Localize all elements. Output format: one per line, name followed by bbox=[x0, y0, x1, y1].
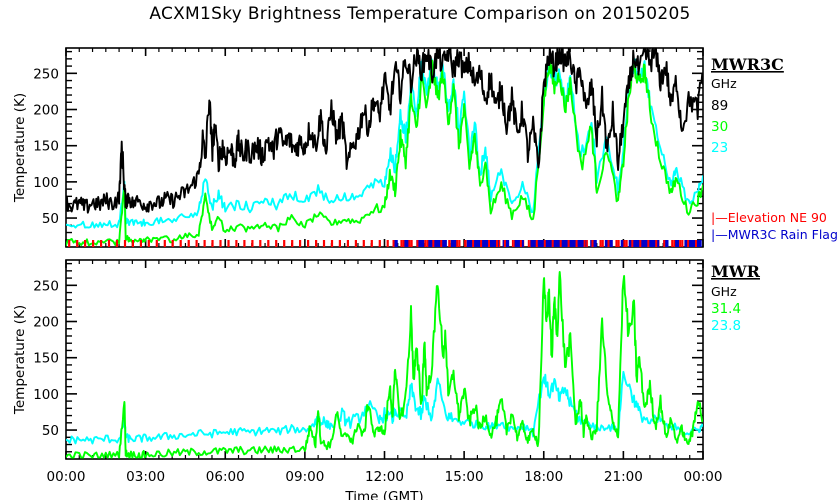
elevation-flag-tick bbox=[536, 240, 538, 247]
elevation-flag-tick bbox=[363, 240, 365, 247]
elevation-flag-tick bbox=[219, 240, 221, 247]
elevation-flag-tick bbox=[235, 240, 237, 247]
series-group-0 bbox=[66, 49, 703, 246]
legend-bottom-item-31-4: 31.4 bbox=[711, 301, 741, 317]
elevation-flag-tick bbox=[560, 240, 562, 247]
legend-flag-elevation: |—Elevation NE 90 bbox=[711, 210, 827, 225]
legend-top-item-89: 89 bbox=[711, 98, 728, 114]
elevation-flag-tick bbox=[568, 240, 570, 247]
y-tick-label: 200 bbox=[33, 315, 59, 331]
elevation-flag-tick bbox=[323, 240, 325, 247]
rain-flag-block bbox=[675, 240, 679, 247]
series-mwr3c-89 bbox=[66, 49, 703, 213]
elevation-flag-tick bbox=[379, 240, 381, 247]
x-tick-label: 18:00 bbox=[524, 469, 563, 485]
elevation-flag-tick bbox=[100, 240, 102, 247]
y-tick-label: 100 bbox=[33, 175, 59, 191]
elevation-flag-tick bbox=[623, 240, 625, 247]
elevation-flag-tick bbox=[631, 240, 633, 247]
elevation-flag-tick bbox=[267, 240, 269, 247]
elevation-flag-tick bbox=[204, 240, 206, 247]
legend-top-title: MWR3C bbox=[711, 55, 784, 74]
y-tick-label: 50 bbox=[42, 423, 59, 439]
legend-bottom-item-23-8: 23.8 bbox=[711, 318, 741, 334]
elevation-flag-tick bbox=[552, 240, 554, 247]
elevation-flag-tick bbox=[440, 240, 442, 247]
y-tick-label: 150 bbox=[33, 139, 59, 155]
x-tick-label: 06:00 bbox=[206, 469, 245, 485]
elevation-flag-tick bbox=[393, 240, 395, 247]
elevation-flag-tick bbox=[615, 240, 617, 247]
y-axis-label: Temperature (K) bbox=[12, 93, 28, 203]
legend-top-item-23: 23 bbox=[711, 140, 728, 156]
x-axis-label: Time (GMT) bbox=[344, 489, 423, 500]
elevation-flag-tick bbox=[544, 240, 546, 247]
x-tick-label: 03:00 bbox=[126, 469, 165, 485]
elevation-flag-tick bbox=[592, 240, 594, 247]
legend-top-units: GHz bbox=[711, 76, 737, 91]
rain-flag-block bbox=[503, 240, 510, 247]
elevation-flag-tick bbox=[299, 240, 301, 247]
elevation-flag-tick bbox=[283, 240, 285, 247]
legend-bottom-title: MWR bbox=[711, 262, 761, 281]
x-tick-label: 00:00 bbox=[684, 469, 723, 485]
elevation-flag-tick bbox=[472, 240, 474, 247]
elevation-flag-tick bbox=[496, 240, 498, 247]
elevation-flag-tick bbox=[411, 240, 413, 247]
legend-top-item-30: 30 bbox=[711, 119, 728, 135]
elevation-flag-tick bbox=[408, 240, 410, 247]
elevation-flag-tick bbox=[259, 240, 261, 247]
rain-flag-block bbox=[428, 240, 447, 247]
y-tick-label: 100 bbox=[33, 387, 59, 403]
rain-flag-block bbox=[684, 240, 701, 247]
elevation-flag-tick bbox=[148, 240, 150, 247]
elevation-flag-tick bbox=[76, 240, 78, 247]
elevation-flag-tick bbox=[576, 240, 578, 247]
elevation-flag-tick bbox=[512, 240, 514, 247]
elevation-flag-tick bbox=[116, 240, 118, 247]
elevation-flag-tick bbox=[172, 240, 174, 247]
elevation-flag-tick bbox=[124, 240, 126, 247]
x-tick-label: 12:00 bbox=[365, 469, 404, 485]
elevation-flag-tick bbox=[347, 240, 349, 247]
elevation-flag-tick bbox=[608, 240, 610, 247]
elevation-flag-tick bbox=[687, 240, 689, 247]
elevation-flag-tick bbox=[520, 240, 522, 247]
elevation-flag-tick bbox=[92, 240, 94, 247]
series-group-1 bbox=[66, 272, 703, 458]
y-tick-label: 150 bbox=[33, 351, 59, 367]
x-tick-label: 00:00 bbox=[47, 469, 86, 485]
elevation-flag-tick bbox=[480, 240, 482, 247]
elevation-flag-tick bbox=[458, 240, 460, 247]
y-tick-label: 200 bbox=[33, 103, 59, 119]
elevation-flag-tick bbox=[602, 240, 604, 247]
elevation-flag-tick bbox=[448, 240, 450, 247]
elevation-flag-tick bbox=[355, 240, 357, 247]
x-tick-label: 15:00 bbox=[445, 469, 484, 485]
elevation-flag-tick bbox=[387, 240, 389, 247]
legend-flag-rain: |—MWR3C Rain Flag bbox=[711, 227, 838, 242]
elevation-flag-tick bbox=[464, 240, 466, 247]
elevation-flag-tick bbox=[291, 240, 293, 247]
elevation-flag-tick bbox=[584, 240, 586, 247]
elevation-flag-tick bbox=[275, 240, 277, 247]
elevation-flag-tick bbox=[371, 240, 373, 247]
elevation-flag-tick bbox=[528, 240, 530, 247]
elevation-flag-tick bbox=[403, 240, 405, 247]
elevation-flag-tick bbox=[681, 240, 683, 247]
elevation-flag-tick bbox=[156, 240, 158, 247]
elevation-flag-tick bbox=[243, 240, 245, 247]
elevation-flag-tick bbox=[626, 240, 628, 247]
elevation-flag-tick bbox=[211, 240, 213, 247]
elevation-flag-tick bbox=[647, 240, 649, 247]
elevation-flag-tick bbox=[426, 240, 428, 247]
x-tick-label: 21:00 bbox=[604, 469, 643, 485]
elevation-flag-tick bbox=[679, 240, 681, 247]
elevation-flag-tick bbox=[488, 240, 490, 247]
elevation-flag-tick bbox=[315, 240, 317, 247]
y-tick-label: 250 bbox=[33, 66, 59, 82]
x-tick-label: 09:00 bbox=[285, 469, 324, 485]
elevation-flag-tick bbox=[416, 240, 418, 247]
elevation-flag-tick bbox=[504, 240, 506, 247]
elevation-flag-tick bbox=[655, 240, 657, 247]
rain-flag-block bbox=[621, 240, 624, 247]
elevation-flag-tick bbox=[84, 240, 86, 247]
elevation-flag-tick bbox=[695, 240, 697, 247]
elevation-flag-tick bbox=[663, 240, 665, 247]
y-tick-label: 50 bbox=[42, 211, 59, 227]
rain-flag-block bbox=[531, 240, 587, 247]
elevation-flag-tick bbox=[339, 240, 341, 247]
elevation-flag-tick bbox=[639, 240, 641, 247]
series-mwr-31-4 bbox=[66, 272, 703, 458]
elevation-flag-tick bbox=[132, 240, 134, 247]
elevation-flag-tick bbox=[432, 240, 434, 247]
elevation-flag-tick bbox=[188, 240, 190, 247]
rain-flag-block bbox=[467, 240, 499, 247]
y-axis-label: Temperature (K) bbox=[12, 305, 28, 415]
chart-svg: 50100150200250Temperature (K)50100150200… bbox=[0, 0, 840, 500]
elevation-flag-tick bbox=[424, 240, 426, 247]
elevation-flag-tick bbox=[400, 240, 402, 247]
elevation-flag-tick bbox=[600, 240, 602, 247]
elevation-flag-tick bbox=[227, 240, 229, 247]
elevation-flag-tick bbox=[331, 240, 333, 247]
elevation-flag-tick bbox=[196, 240, 198, 247]
elevation-flag-tick bbox=[618, 240, 620, 247]
elevation-flag-tick bbox=[140, 240, 142, 247]
rain-flag-block bbox=[515, 240, 524, 247]
elevation-flag-tick bbox=[164, 240, 166, 247]
elevation-flag-tick bbox=[307, 240, 309, 247]
y-tick-label: 250 bbox=[33, 278, 59, 294]
elevation-flag-tick bbox=[251, 240, 253, 247]
elevation-flag-tick bbox=[456, 240, 458, 247]
elevation-flag-tick bbox=[671, 240, 673, 247]
legend-bottom-units: GHz bbox=[711, 284, 737, 299]
elevation-flag-tick bbox=[108, 240, 110, 247]
elevation-flag-tick bbox=[180, 240, 182, 247]
elevation-flag-tick bbox=[68, 240, 70, 247]
panel-mwr3c: 50100150200250Temperature (K) bbox=[12, 48, 703, 247]
